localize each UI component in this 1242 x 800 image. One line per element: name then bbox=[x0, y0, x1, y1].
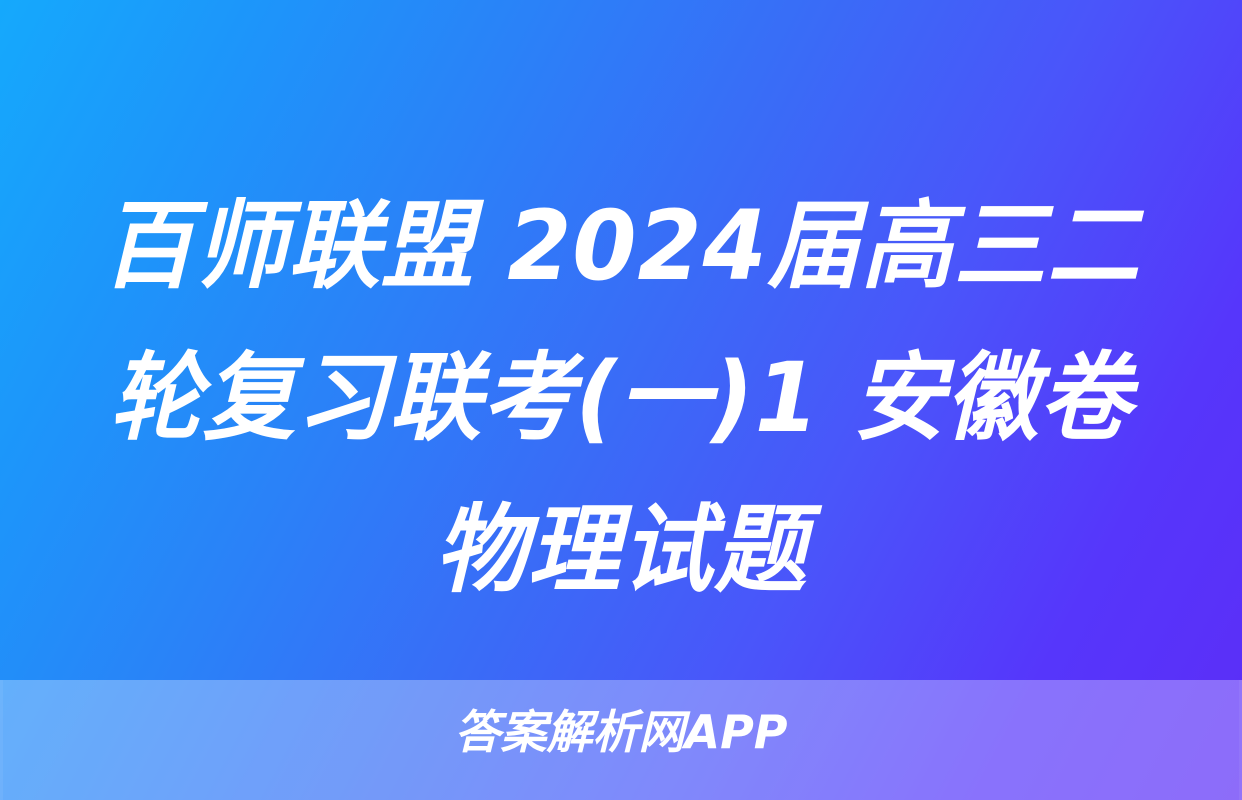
title-line-3: 物理试题 bbox=[63, 474, 1179, 626]
watermark-brand: 答案解析网APP bbox=[0, 696, 1242, 762]
poster-canvas: 百师联盟 2024届高三二 轮复习联考(一)1 安徽卷 物理试题 答案解析网AP… bbox=[0, 0, 1242, 800]
poster-title: 百师联盟 2024届高三二 轮复习联考(一)1 安徽卷 物理试题 bbox=[0, 170, 1242, 626]
title-line-2: 轮复习联考(一)1 安徽卷 bbox=[63, 322, 1179, 474]
title-line-1: 百师联盟 2024届高三二 bbox=[63, 170, 1179, 322]
